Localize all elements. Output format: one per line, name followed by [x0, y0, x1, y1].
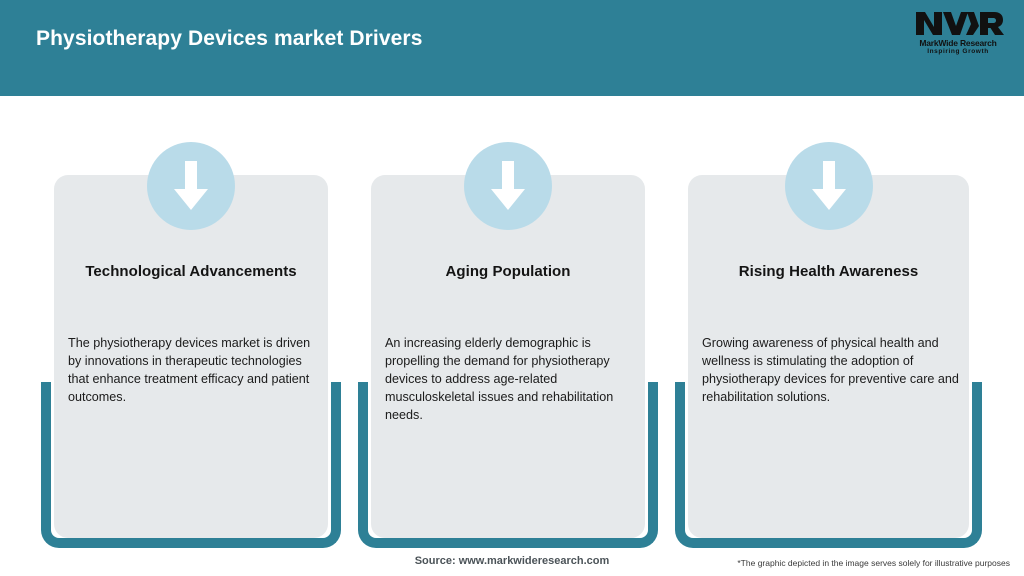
driver-card-1[interactable]: Technological Advancements The physiothe…: [41, 96, 341, 576]
arrow-down-glyph: [809, 159, 849, 213]
driver-card-2[interactable]: Aging Population An increasing elderly d…: [358, 96, 658, 576]
arrow-down-icon: [147, 142, 235, 230]
arrow-down-icon: [785, 142, 873, 230]
logo: MarkWide Research Inspiring Growth: [910, 8, 1006, 60]
page-title: Physiotherapy Devices market Drivers: [36, 27, 422, 51]
card-title: Technological Advancements: [68, 263, 314, 280]
arrow-down-glyph: [171, 159, 211, 213]
arrow-down-icon: [464, 142, 552, 230]
driver-card-3[interactable]: Rising Health Awareness Growing awarenes…: [675, 96, 982, 576]
card-body-text: The physiotherapy devices market is driv…: [68, 335, 318, 407]
card-body-text: An increasing elderly demographic is pro…: [385, 335, 635, 424]
card-title: Rising Health Awareness: [702, 263, 955, 280]
drivers-card-row: Technological Advancements The physiothe…: [0, 96, 1024, 576]
card-body-text: Growing awareness of physical health and…: [702, 335, 959, 407]
card-title: Aging Population: [385, 263, 631, 280]
arrow-down-glyph: [488, 159, 528, 213]
mwr-logo-icon: [910, 8, 1006, 38]
logo-company-name: MarkWide Research: [910, 38, 1006, 48]
disclaimer-note: *The graphic depicted in the image serve…: [737, 558, 1010, 568]
logo-tagline: Inspiring Growth: [910, 48, 1006, 55]
slide-canvas: Physiotherapy Devices market Drivers Mar…: [0, 0, 1024, 576]
